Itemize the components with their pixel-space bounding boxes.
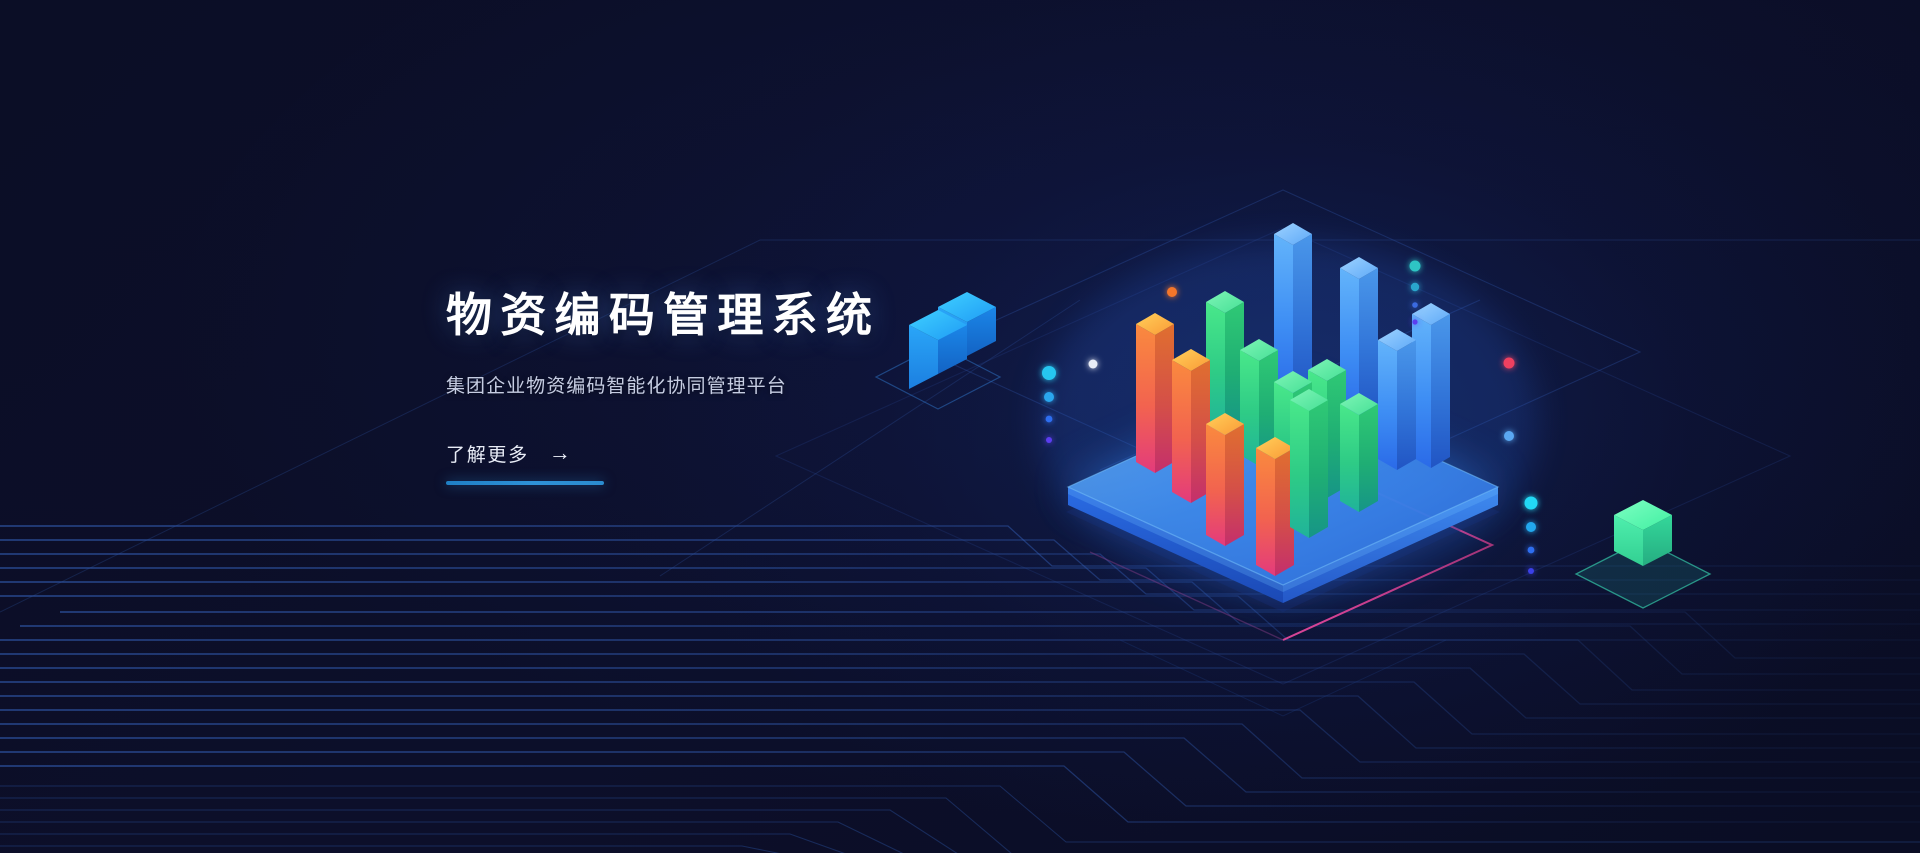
learn-more-underline	[446, 481, 604, 485]
blue-cube-group	[876, 292, 1000, 409]
hero-copy: 物资编码管理系统 集团企业物资编码智能化协同管理平台 了解更多 →	[446, 288, 880, 485]
page-subtitle: 集团企业物资编码智能化协同管理平台	[446, 371, 880, 398]
page-title: 物资编码管理系统	[446, 288, 880, 343]
learn-more-wrapper: 了解更多 →	[446, 440, 604, 485]
green-cube-group	[1576, 500, 1710, 608]
hero-illustration	[0, 0, 1920, 853]
learn-more-label: 了解更多	[446, 440, 529, 467]
hero-banner: 物资编码管理系统 集团企业物资编码智能化协同管理平台 了解更多 →	[0, 0, 1920, 853]
arrow-right-icon: →	[549, 442, 573, 464]
learn-more-link[interactable]: 了解更多 →	[446, 440, 604, 481]
